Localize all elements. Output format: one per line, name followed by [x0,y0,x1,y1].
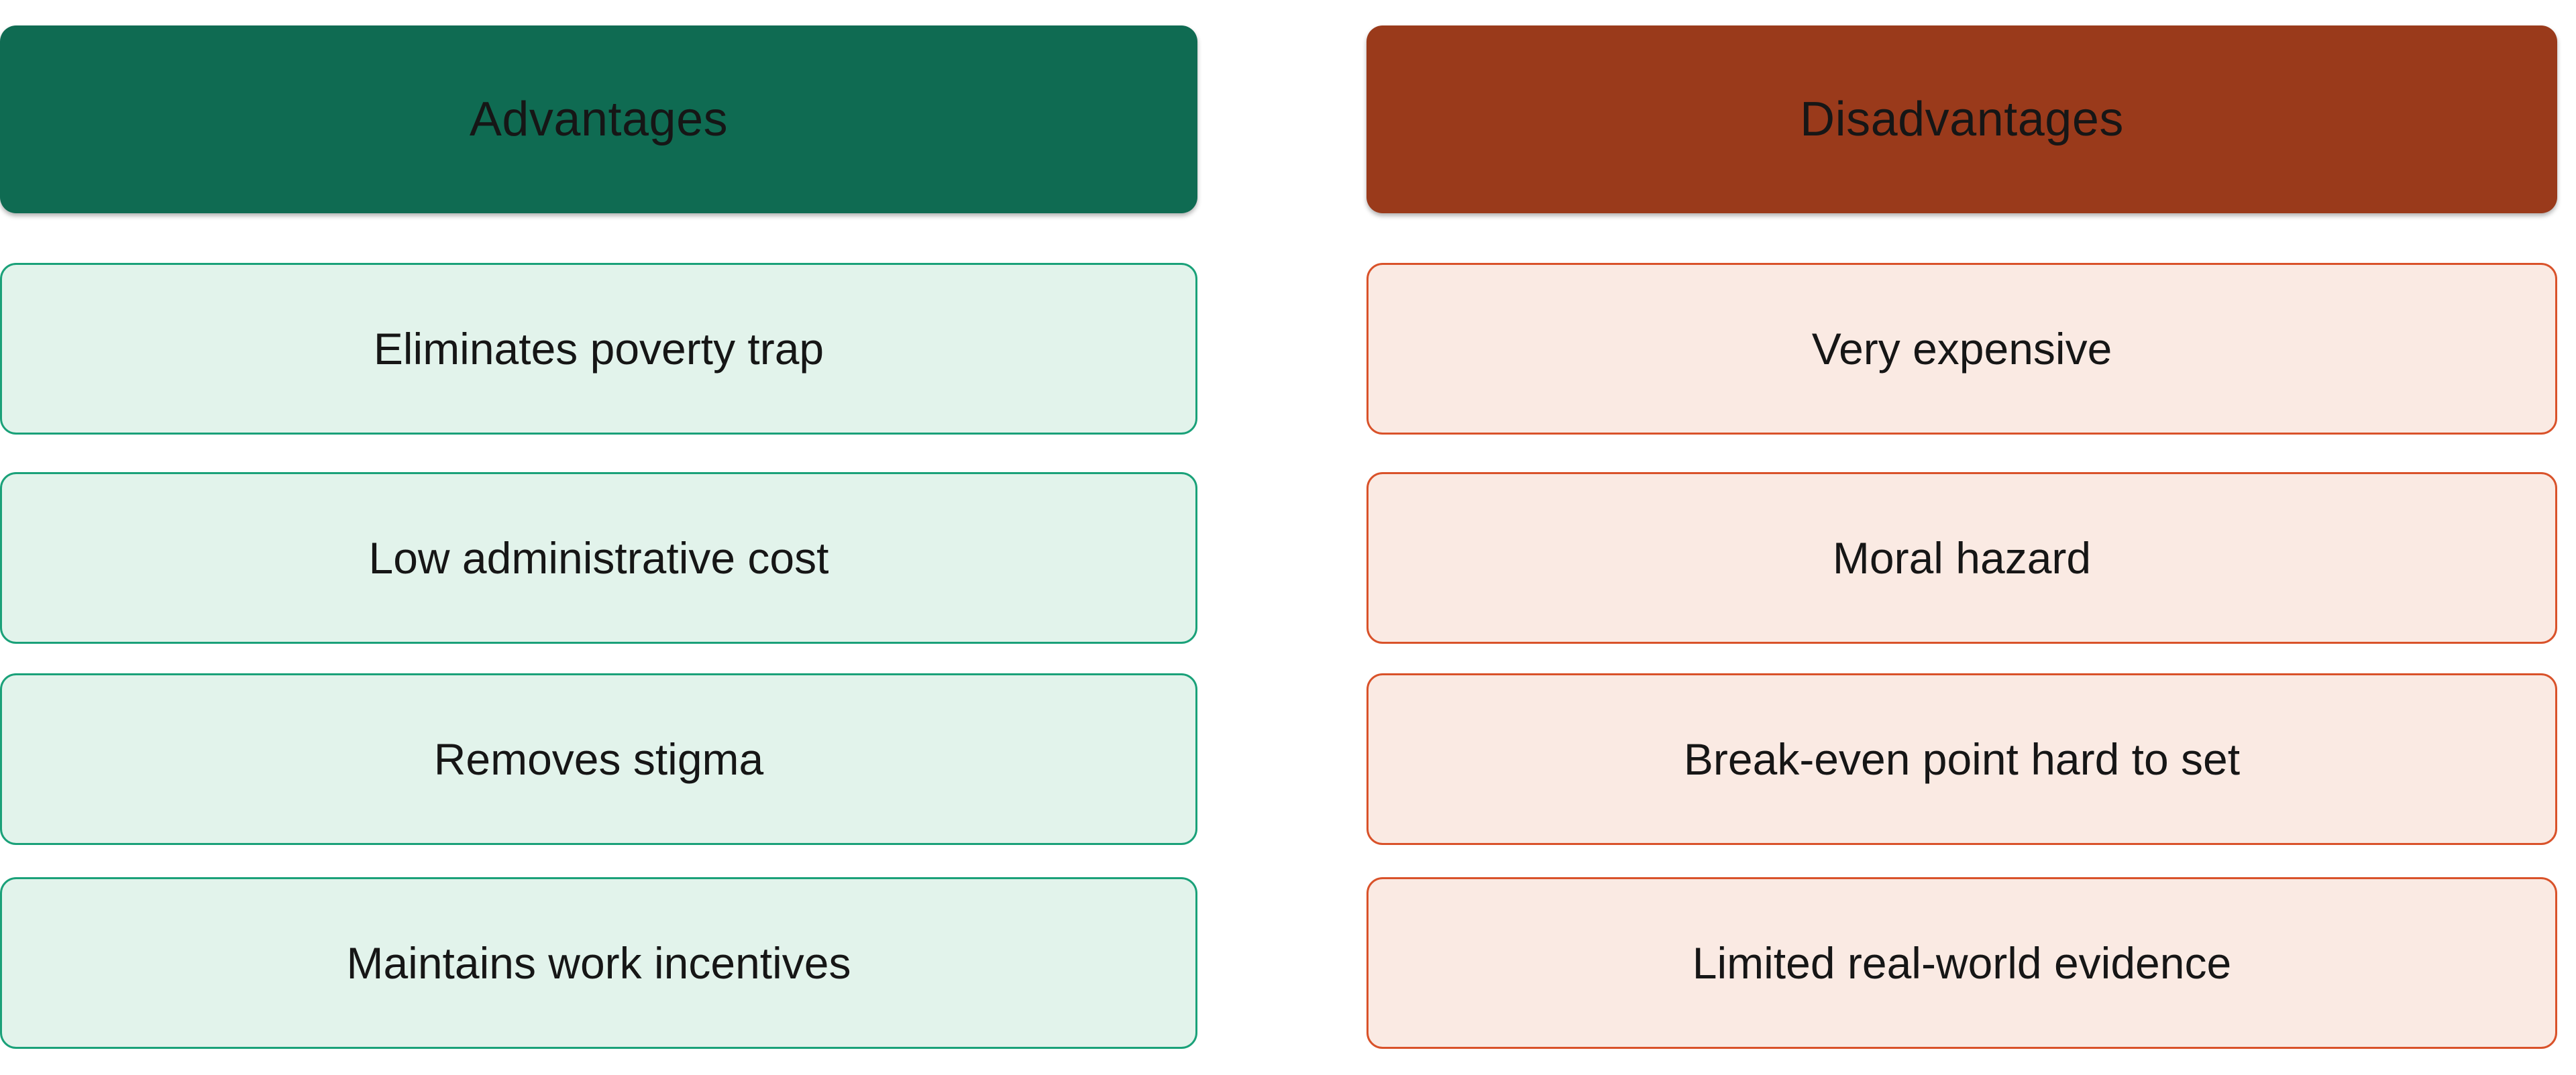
advantages-item-3: Removes stigma [0,673,1197,845]
advantages-item-4-label: Maintains work incentives [328,941,870,985]
advantages-header-card: Advantages [0,25,1197,213]
disadvantages-item-3-label: Break-even point hard to set [1665,737,2259,781]
advantages-item-1: Eliminates poverty trap [0,263,1197,435]
disadvantages-column: Disadvantages Very expensive Moral hazar… [1366,0,2557,1075]
advantages-item-1-label: Eliminates poverty trap [355,327,843,371]
disadvantages-item-1-label: Very expensive [1793,327,2131,371]
advantages-header-title: Advantages [470,95,728,144]
disadvantages-item-1: Very expensive [1366,263,2557,435]
disadvantages-header-title: Disadvantages [1800,95,2124,144]
disadvantages-item-2-label: Moral hazard [1814,536,2110,580]
disadvantages-item-4-label: Limited real-world evidence [1674,941,2250,985]
disadvantages-item-2: Moral hazard [1366,472,2557,644]
advantages-item-3-label: Removes stigma [415,737,783,781]
disadvantages-header-card: Disadvantages [1366,25,2557,213]
comparison-board: Advantages Eliminates poverty trap Low a… [0,0,2576,1075]
advantages-item-4: Maintains work incentives [0,877,1197,1049]
advantages-item-2: Low administrative cost [0,472,1197,644]
disadvantages-item-4: Limited real-world evidence [1366,877,2557,1049]
disadvantages-item-3: Break-even point hard to set [1366,673,2557,845]
advantages-item-2-label: Low administrative cost [350,536,848,580]
advantages-column: Advantages Eliminates poverty trap Low a… [0,0,1197,1075]
